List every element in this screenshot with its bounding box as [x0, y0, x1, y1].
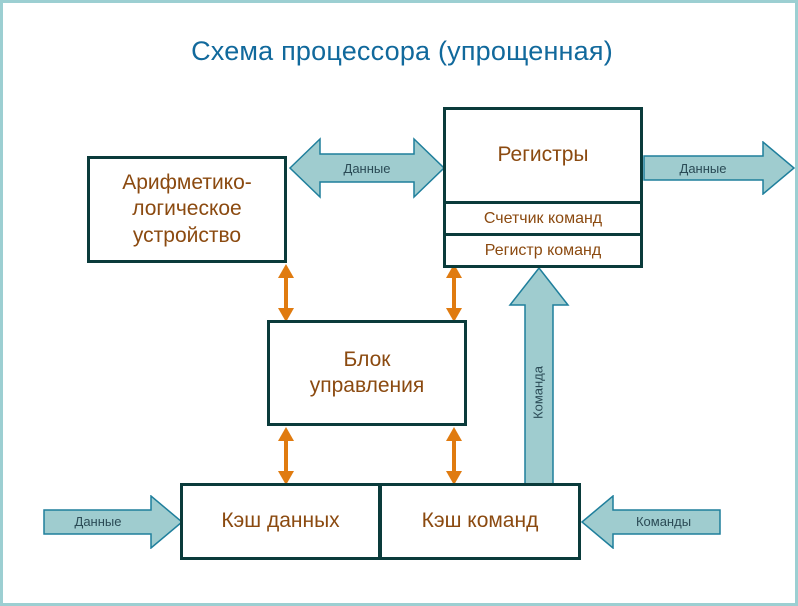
block-instruction-register[interactable]: Регистр команд [443, 233, 643, 268]
block-registers-label: Регистры [446, 142, 640, 168]
block-program-counter-label: Счетчик команд [446, 209, 640, 229]
block-alu[interactable]: Арифметико- логическое устройство [87, 156, 287, 263]
diagram-canvas: Схема процессора (упрощенная) Данные Дан… [0, 0, 798, 606]
commands-arrow-in-label: Команды [611, 514, 716, 529]
block-data-cache[interactable]: Кэш данных [180, 483, 381, 560]
registers-group: Регистры Счетчик команд Регистр команд [443, 107, 643, 266]
orange-arrow-registers-control [443, 264, 465, 322]
block-alu-label: Арифметико- логическое устройство [90, 170, 284, 249]
page-title: Схема процессора (упрощенная) [3, 36, 798, 67]
block-control-unit[interactable]: Блок управления [267, 320, 467, 426]
block-instruction-register-label: Регистр команд [446, 241, 640, 261]
data-arrow-alu-registers-label: Данные [289, 161, 445, 176]
data-arrow-registers-out-label: Данные [648, 161, 758, 176]
block-registers[interactable]: Регистры [443, 107, 643, 204]
instruction-arrow-up-label: Команда [531, 353, 546, 433]
orange-arrow-control-instr-cache [443, 427, 465, 485]
block-control-unit-label: Блок управления [270, 347, 464, 400]
orange-arrow-control-data-cache [275, 427, 297, 485]
block-instruction-cache[interactable]: Кэш команд [379, 483, 581, 560]
block-program-counter[interactable]: Счетчик команд [443, 201, 643, 236]
orange-arrow-alu-control [275, 264, 297, 322]
data-arrow-data-in-label: Данные [48, 514, 148, 529]
block-instruction-cache-label: Кэш команд [382, 508, 578, 534]
block-data-cache-label: Кэш данных [183, 508, 378, 534]
